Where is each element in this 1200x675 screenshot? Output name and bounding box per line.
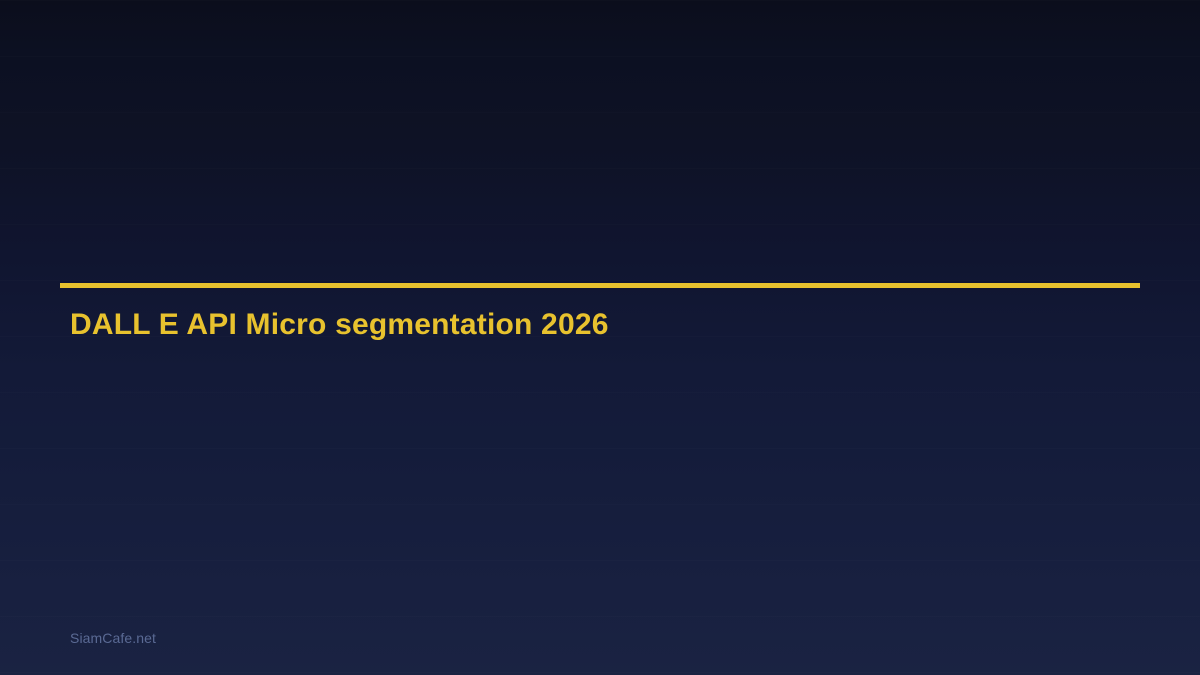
- footer-watermark-label: SiamCafe.net: [70, 630, 156, 646]
- slide-footer: SiamCafe.net: [70, 630, 156, 648]
- title-block: DALL E API Micro segmentation 2026: [60, 283, 1140, 343]
- slide-title: DALL E API Micro segmentation 2026: [60, 288, 1140, 343]
- slide-canvas: DALL E API Micro segmentation 2026 SiamC…: [0, 0, 1200, 675]
